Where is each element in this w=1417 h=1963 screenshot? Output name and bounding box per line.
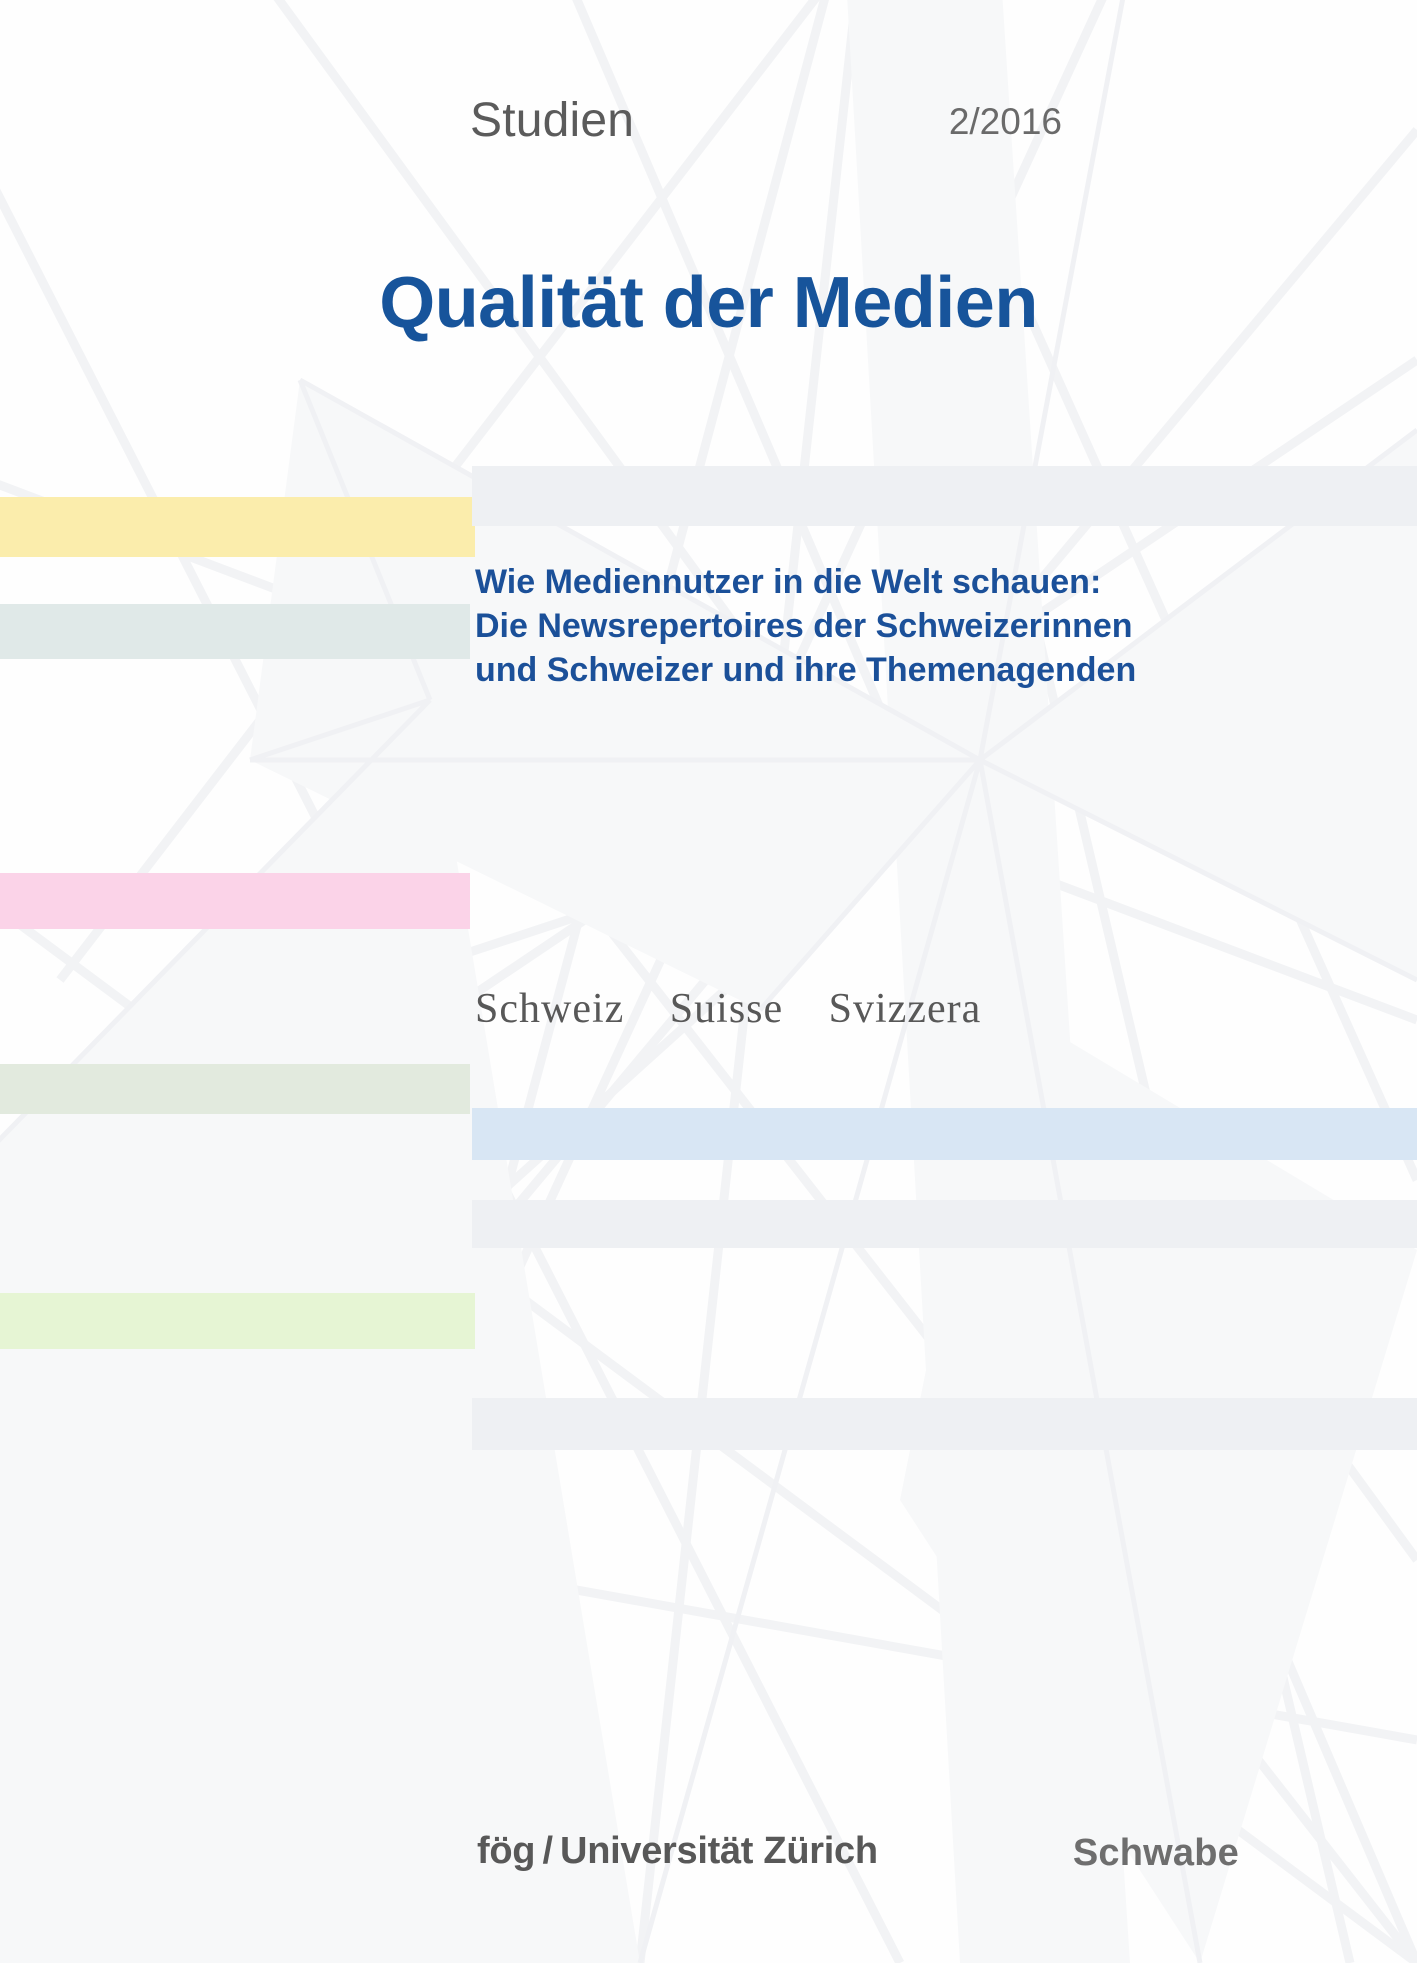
page-title: Qualität der Medien	[0, 262, 1417, 344]
accent-band-grey-lower	[472, 1398, 1417, 1450]
accent-band-yellow	[0, 497, 475, 557]
issue-number: 2/2016	[949, 101, 1062, 143]
series-label: Studien	[470, 93, 634, 148]
trilingual-country-label: Schweiz Suisse Svizzera	[475, 985, 1335, 1033]
subtitle-line-3: und Schweizer und ihre Themenagenden	[475, 648, 1305, 692]
accent-band-green-light	[0, 1293, 475, 1349]
country-name-de: Schweiz	[475, 986, 624, 1032]
country-name-fr: Suisse	[670, 986, 783, 1032]
institution-label: fög / Universität Zürich	[477, 1830, 878, 1873]
accent-band-grey-middle	[472, 1200, 1417, 1248]
subtitle-line-1: Wie Mediennutzer in die Welt schauen:	[475, 560, 1305, 604]
accent-band-green-soft	[0, 1064, 470, 1114]
accent-band-grey-upper	[472, 466, 1417, 526]
accent-band-pink	[0, 873, 470, 929]
publisher-label: Schwabe	[1073, 1832, 1239, 1875]
country-name-it: Svizzera	[829, 986, 982, 1032]
subtitle-line-2: Die Newsrepertoires der Schweizerinnen	[475, 604, 1305, 648]
cover-header: Studien 2/2016	[0, 93, 1417, 153]
accent-band-teal	[0, 604, 470, 659]
cover-footer: fög / Universität Zürich Schwabe	[0, 1830, 1417, 1890]
accent-band-blue	[472, 1108, 1417, 1160]
subtitle-block: Wie Mediennutzer in die Welt schauen: Di…	[475, 560, 1305, 693]
